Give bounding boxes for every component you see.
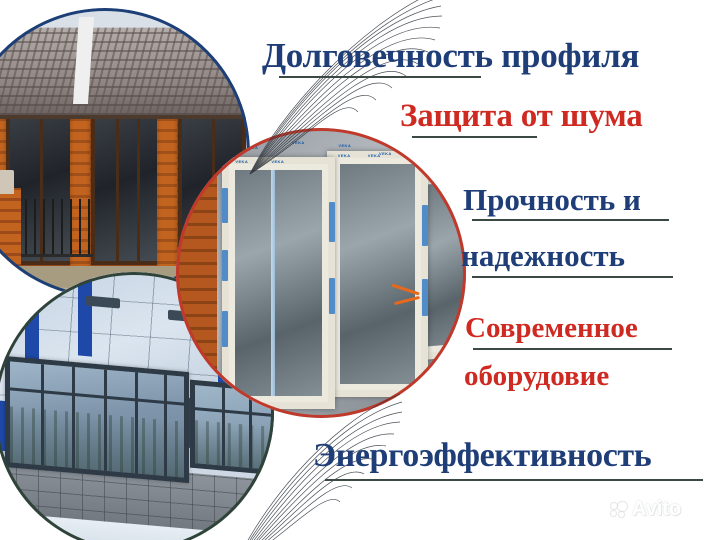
headline-noise-protection: Защита от шума [400,98,643,135]
headline-reliability: надежность [461,238,625,274]
headline-underline-reliability [472,276,673,278]
headline-underline-noise-protection [412,136,537,138]
photo-pvc-windows: VEKA VEKA VEKA VEKA VEKA VEKA VEKA VEKA [176,128,466,418]
avito-watermark: Avito [611,498,681,521]
avito-watermark-label: Avito [632,498,681,521]
headline-modern: Современное [465,312,638,345]
headline-equipment: оборудовие [464,360,609,393]
headline-energy-efficiency: Энергоэффективность [313,437,651,475]
promo-banner: VEKA VEKA VEKA VEKA VEKA VEKA VEKA VEKA [0,0,720,540]
headline-strength: Прочность и [463,182,641,218]
avito-logo-icon [611,502,628,517]
headline-underline-durability [279,76,481,78]
headline-underline-energy-efficiency [325,479,703,481]
headline-durability: Долговечность профиля [262,36,639,76]
headline-underline-strength [472,219,669,221]
headline-underline-modern [473,348,672,350]
